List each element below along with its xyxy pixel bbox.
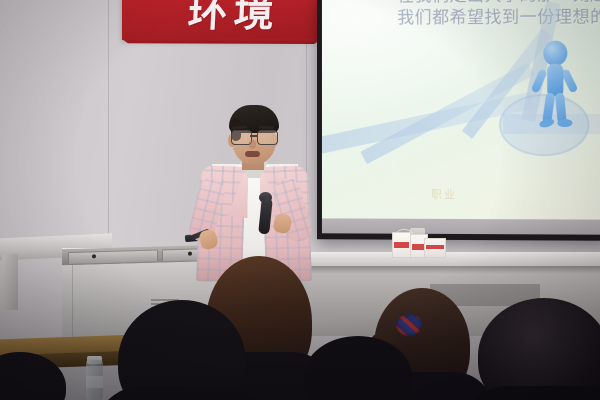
product-boxes xyxy=(392,232,444,258)
slide-text-line-2: 我们都希望找到一份理想的 xyxy=(397,8,600,28)
eyeglass-bridge xyxy=(250,135,257,137)
speaker-nose xyxy=(249,140,256,149)
projection-screen-frame: 在我们走出大学的那一刻起 我们都希望找到一份理想的 xyxy=(317,0,600,241)
side-desk-leg xyxy=(2,254,18,310)
hair-scrunchie xyxy=(396,314,422,336)
projected-slide: 在我们走出大学的那一刻起 我们都希望找到一份理想的 xyxy=(322,0,600,220)
whiteboard: 在我们走出大学的那一刻起 我们都希望找到一份理想的 xyxy=(322,0,600,235)
right-counter-shadow xyxy=(300,266,600,274)
water-bottle-label xyxy=(86,376,103,388)
slide-figure-icon xyxy=(527,41,583,133)
product-box-3 xyxy=(424,238,446,258)
figure-body xyxy=(547,64,563,96)
slide-faint-text: 职业 xyxy=(431,186,457,202)
figure-foot-left xyxy=(538,117,555,129)
rack-unit-1 xyxy=(68,250,158,266)
figure-foot-right xyxy=(557,119,572,127)
speaker-mouth xyxy=(245,151,260,157)
eyeglass-lens-right xyxy=(257,130,278,145)
whiteboard-lower-area xyxy=(322,218,600,234)
figure-arm-left xyxy=(531,68,548,93)
lecture-hall-photo: 环境 在我们走出大学的那一刻起 我们都希望找到一份理想的 xyxy=(0,0,600,400)
banner-text: 环境 xyxy=(186,0,281,38)
red-banner: 环境 xyxy=(122,0,322,40)
slide-text-line-1: 在我们走出大学的那一刻起 xyxy=(397,0,600,6)
figure-head xyxy=(543,41,567,66)
